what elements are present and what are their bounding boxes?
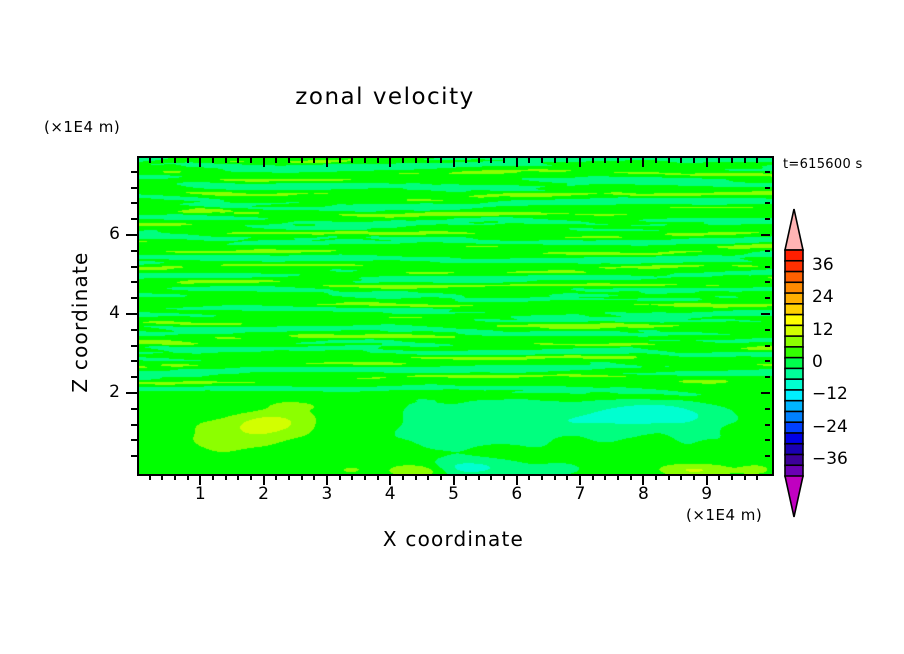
x-tick-minor	[427, 474, 429, 480]
x-tick-label: 4	[370, 484, 410, 504]
x-tick-minor	[440, 474, 442, 480]
x-tick-minor	[566, 474, 568, 480]
y-tick-minor	[131, 266, 137, 268]
y-tick-right	[761, 234, 770, 236]
x-axis-title: X coordinate	[137, 527, 770, 551]
x-tick-top	[756, 158, 758, 163]
colorbar-band	[785, 422, 803, 433]
page-title: zonal velocity	[0, 84, 770, 110]
x-tick-top	[503, 158, 505, 163]
colorbar-band	[785, 347, 803, 358]
timestamp-annotation: t=615600 s	[783, 157, 863, 172]
colorbar-band	[785, 282, 803, 293]
y-tick-right	[765, 329, 770, 331]
x-tick-top	[516, 158, 518, 167]
x-tick-top	[415, 158, 417, 163]
colorbar-band	[785, 411, 803, 422]
y-tick-right	[765, 297, 770, 299]
y-tick-right	[765, 266, 770, 268]
y-tick-minor	[131, 408, 137, 410]
y-tick-right	[765, 455, 770, 457]
y-tick-major	[126, 392, 137, 394]
x-tick-top	[275, 158, 277, 163]
x-tick-top	[718, 158, 720, 163]
x-tick-minor	[174, 474, 176, 480]
x-tick-top	[250, 158, 252, 163]
y-tick-right	[765, 345, 770, 347]
x-tick-top	[465, 158, 467, 163]
colorbar-band	[785, 336, 803, 347]
x-tick-top	[263, 158, 265, 167]
colorbar-band	[785, 444, 803, 455]
x-tick-minor	[364, 474, 366, 480]
x-tick-top	[313, 158, 315, 163]
x-tick-minor	[528, 474, 530, 480]
colorbar-band	[785, 358, 803, 369]
y-tick-right	[765, 439, 770, 441]
x-tick-top	[706, 158, 708, 167]
y-axis-title: Z coordinate	[68, 222, 92, 422]
x-tick-minor	[212, 474, 214, 480]
x-tick-minor	[301, 474, 303, 480]
colorbar-band	[785, 304, 803, 315]
colorbar-band	[785, 465, 803, 476]
x-tick-top	[187, 158, 189, 163]
colorbar-tick-label: 36	[812, 255, 834, 275]
colorbar-tick-label: −24	[812, 417, 848, 437]
x-tick-top	[351, 158, 353, 163]
x-tick-minor	[756, 474, 758, 480]
x-tick-top	[566, 158, 568, 163]
colorbar-tick-label: 0	[812, 352, 823, 372]
x-tick-top	[326, 158, 328, 167]
x-tick-minor	[680, 474, 682, 480]
x-tick-minor	[187, 474, 189, 480]
x-tick-label: 3	[307, 484, 347, 504]
x-tick-minor	[655, 474, 657, 480]
x-tick-minor	[604, 474, 606, 480]
y-tick-right	[765, 171, 770, 173]
colorbar-band	[785, 379, 803, 390]
x-tick-minor	[592, 474, 594, 480]
x-tick-minor	[402, 474, 404, 480]
x-tick-minor	[478, 474, 480, 480]
x-tick-label: 2	[244, 484, 284, 504]
colorbar-tick-label: −36	[812, 449, 848, 469]
y-tick-minor	[131, 202, 137, 204]
x-tick-minor	[313, 474, 315, 480]
x-tick-top	[453, 158, 455, 167]
x-tick-minor	[377, 474, 379, 480]
x-tick-minor	[351, 474, 353, 480]
x-tick-minor	[617, 474, 619, 480]
x-tick-top	[174, 158, 176, 163]
x-tick-top	[617, 158, 619, 163]
x-tick-top	[364, 158, 366, 163]
x-tick-minor	[744, 474, 746, 480]
x-tick-minor	[554, 474, 556, 480]
x-tick-minor	[731, 474, 733, 480]
x-tick-label: 9	[687, 484, 727, 504]
y-tick-right	[765, 408, 770, 410]
x-tick-top	[199, 158, 201, 167]
contour-field	[139, 158, 772, 474]
x-tick-top	[402, 158, 404, 163]
y-tick-minor	[131, 329, 137, 331]
y-tick-right	[761, 313, 770, 315]
y-tick-minor	[131, 250, 137, 252]
x-tick-top	[237, 158, 239, 163]
x-tick-top	[541, 158, 543, 163]
x-tick-minor	[668, 474, 670, 480]
x-tick-minor	[693, 474, 695, 480]
colorbar-tick-label: −12	[812, 384, 848, 404]
x-tick-minor	[250, 474, 252, 480]
colorbar-band	[785, 454, 803, 465]
colorbar-band	[785, 272, 803, 283]
x-tick-top	[642, 158, 644, 167]
y-tick-minor	[131, 218, 137, 220]
x-tick-minor	[149, 474, 151, 480]
x-tick-top	[225, 158, 227, 163]
y-tick-right	[765, 218, 770, 220]
x-tick-minor	[465, 474, 467, 480]
y-tick-major	[126, 313, 137, 315]
x-tick-top	[680, 158, 682, 163]
colorbar-band	[785, 250, 803, 261]
x-tick-minor	[415, 474, 417, 480]
y-tick-minor	[131, 424, 137, 426]
x-tick-top	[655, 158, 657, 163]
x-tick-top	[389, 158, 391, 167]
x-tick-top	[490, 158, 492, 163]
colorbar-band	[785, 368, 803, 379]
colorbar-tick-label: 12	[812, 320, 834, 340]
x-tick-minor	[490, 474, 492, 480]
y-tick-minor	[131, 345, 137, 347]
x-tick-minor	[275, 474, 277, 480]
x-tick-top	[301, 158, 303, 163]
y-tick-minor	[131, 297, 137, 299]
colorbar-under-cap	[785, 476, 803, 517]
x-tick-top	[440, 158, 442, 163]
colorbar-band	[785, 401, 803, 412]
colorbar-band	[785, 315, 803, 326]
x-tick-minor	[237, 474, 239, 480]
x-tick-top	[149, 158, 151, 163]
x-tick-top	[731, 158, 733, 163]
colorbar-tick-label: 24	[812, 287, 834, 307]
x-tick-top	[693, 158, 695, 163]
y-tick-minor	[131, 187, 137, 189]
colorbar-band	[785, 293, 803, 304]
x-axis-unit-label: (×1E4 m)	[686, 506, 762, 524]
x-tick-minor	[288, 474, 290, 480]
figure-canvas: zonal velocity (×1E4 m) (×1E4 m) t=61560…	[0, 0, 904, 654]
y-axis-unit-label: (×1E4 m)	[44, 118, 120, 136]
x-tick-minor	[503, 474, 505, 480]
colorbar	[783, 208, 805, 518]
colorbar-band	[785, 261, 803, 272]
x-tick-top	[604, 158, 606, 163]
colorbar-band	[785, 433, 803, 444]
y-tick-right	[765, 250, 770, 252]
x-tick-top	[288, 158, 290, 163]
x-tick-top	[579, 158, 581, 167]
x-tick-top	[528, 158, 530, 163]
x-tick-minor	[161, 474, 163, 480]
y-tick-major	[126, 234, 137, 236]
x-tick-label: 7	[560, 484, 600, 504]
x-tick-minor	[339, 474, 341, 480]
colorbar-over-cap	[785, 209, 803, 250]
x-tick-minor	[541, 474, 543, 480]
y-tick-right	[765, 187, 770, 189]
x-tick-top	[377, 158, 379, 163]
y-tick-minor	[131, 281, 137, 283]
y-tick-right	[765, 281, 770, 283]
colorbar-band	[785, 325, 803, 336]
colorbar-swatches	[783, 208, 805, 518]
x-tick-top	[554, 158, 556, 163]
x-tick-label: 8	[623, 484, 663, 504]
x-tick-top	[668, 158, 670, 163]
y-tick-minor	[131, 360, 137, 362]
x-tick-label: 5	[434, 484, 474, 504]
y-tick-minor	[131, 376, 137, 378]
y-tick-minor	[131, 455, 137, 457]
x-tick-top	[339, 158, 341, 163]
x-tick-top	[161, 158, 163, 163]
x-tick-minor	[225, 474, 227, 480]
x-tick-label: 6	[497, 484, 537, 504]
y-tick-right	[765, 424, 770, 426]
y-tick-right	[765, 202, 770, 204]
x-tick-top	[427, 158, 429, 163]
x-tick-minor	[630, 474, 632, 480]
x-tick-top	[592, 158, 594, 163]
y-tick-right	[765, 360, 770, 362]
x-tick-top	[630, 158, 632, 163]
y-tick-right	[761, 392, 770, 394]
y-tick-minor	[131, 439, 137, 441]
y-tick-right	[765, 376, 770, 378]
x-tick-minor	[718, 474, 720, 480]
contour-plot-area	[137, 156, 774, 476]
x-tick-top	[212, 158, 214, 163]
x-tick-top	[478, 158, 480, 163]
colorbar-band	[785, 390, 803, 401]
y-tick-minor	[131, 171, 137, 173]
x-tick-top	[744, 158, 746, 163]
x-tick-label: 1	[180, 484, 220, 504]
